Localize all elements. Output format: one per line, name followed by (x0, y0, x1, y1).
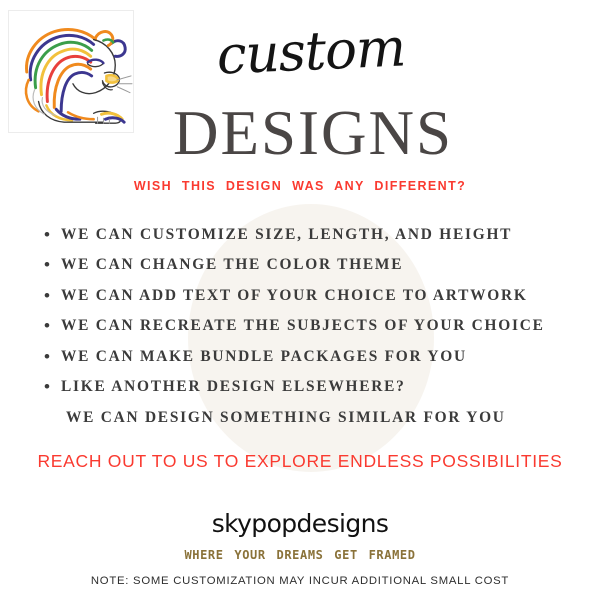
list-item-label: WE CAN ADD TEXT OF YOUR CHOICE TO ARTWOR… (61, 286, 528, 305)
lion-logo (8, 10, 134, 133)
subheading: WISH THIS DESIGN WAS ANY DIFFERENT? (0, 178, 600, 194)
bullet-dot-icon: • (44, 226, 61, 243)
bullet-dot-icon: • (44, 317, 61, 334)
list-item-continuation-label: WE CAN DESIGN SOMETHING SIMILAR FOR YOU (66, 408, 506, 427)
list-item: • WE CAN CHANGE THE COLOR THEME (44, 250, 589, 281)
bullet-dot-icon: • (44, 378, 61, 395)
bullet-dot-icon: • (44, 256, 61, 273)
list-item-label: WE CAN CHANGE THE COLOR THEME (61, 255, 403, 274)
brand-tagline: WHERE YOUR DREAMS GET FRAMED (0, 548, 600, 563)
list-item: • WE CAN MAKE BUNDLE PACKAGES FOR YOU (44, 341, 589, 372)
footnote: NOTE: SOME CUSTOMIZATION MAY INCUR ADDIT… (0, 574, 600, 588)
list-item-label: WE CAN CUSTOMIZE SIZE, LENGTH, AND HEIGH… (61, 225, 512, 244)
list-item: • WE CAN CUSTOMIZE SIZE, LENGTH, AND HEI… (44, 219, 589, 250)
promo-poster: custom DESIGNS WISH THIS DESIGN WAS ANY … (0, 0, 600, 600)
list-item-label: WE CAN MAKE BUNDLE PACKAGES FOR YOU (61, 347, 467, 366)
lion-line-art-icon (9, 11, 133, 132)
list-item: • LIKE ANOTHER DESIGN ELSEWHERE? (44, 372, 589, 403)
call-to-action-text: REACH OUT TO US TO EXPLORE ENDLESS POSSI… (0, 450, 600, 472)
list-item: • WE CAN RECREATE THE SUBJECTS OF YOUR C… (44, 311, 589, 342)
list-item-label: LIKE ANOTHER DESIGN ELSEWHERE? (61, 377, 406, 396)
brand-name: skypopdesigns (0, 509, 600, 539)
feature-list: • WE CAN CUSTOMIZE SIZE, LENGTH, AND HEI… (44, 219, 589, 433)
bullet-dot-icon: • (44, 348, 61, 365)
list-item-continuation: WE CAN DESIGN SOMETHING SIMILAR FOR YOU (44, 402, 589, 433)
list-item: • WE CAN ADD TEXT OF YOUR CHOICE TO ARTW… (44, 280, 589, 311)
bullet-dot-icon: • (44, 287, 61, 304)
list-item-label: WE CAN RECREATE THE SUBJECTS OF YOUR CHO… (61, 316, 545, 335)
